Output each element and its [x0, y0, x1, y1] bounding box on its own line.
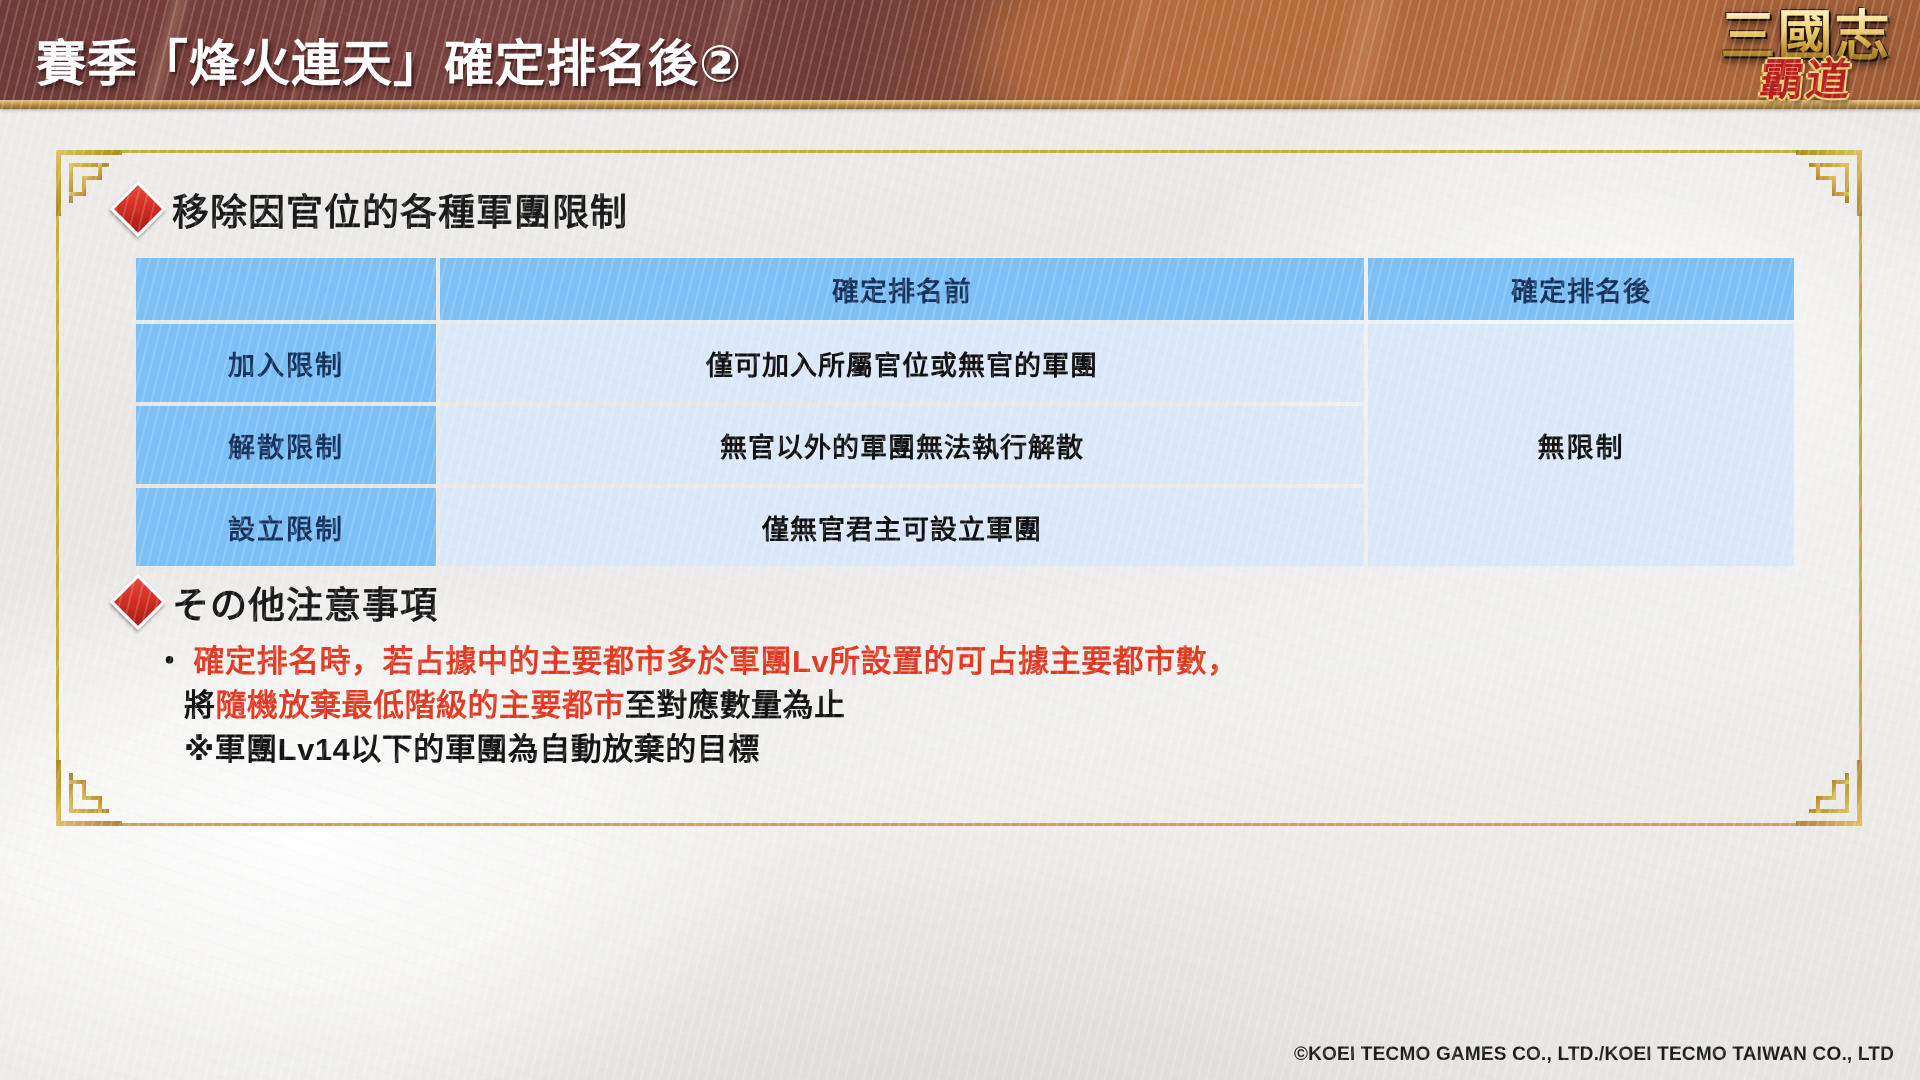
note-line-3: ※軍團Lv14以下的軍團為自動放棄的目標	[154, 728, 1814, 772]
section-heading-notes: その他注意事項	[118, 575, 438, 629]
note-line-3-text: ※軍團Lv14以下的軍團為自動放棄的目標	[184, 732, 760, 767]
comparison-table: 確定排名前 確定排名後 加入限制 僅可加入所屬官位或無官的軍團 無限制 解散限制…	[132, 254, 1798, 570]
section-heading-label: 移除因官位的各種軍團限制	[172, 182, 628, 236]
row-label-disband: 解散限制	[136, 406, 436, 484]
row-label-join: 加入限制	[136, 324, 436, 402]
note-line-2-suffix: 至對應數量為止	[625, 688, 846, 723]
cell-before-found: 僅無官君主可設立軍團	[440, 488, 1364, 566]
table-header-before: 確定排名前	[440, 258, 1364, 320]
cell-before-disband: 無官以外的軍團無法執行解散	[440, 406, 1364, 484]
table-header-after: 確定排名後	[1368, 258, 1794, 320]
table-header-row: 確定排名前 確定排名後	[136, 258, 1794, 320]
logo-sub-text: 霸道	[1716, 59, 1897, 103]
copyright-notice: ©KOEI TECMO GAMES CO., LTD./KOEI TECMO T…	[1294, 1044, 1894, 1066]
note-line-2: 將隨機放棄最低階級的主要都市至對應數量為止	[154, 684, 1814, 728]
red-diamond-icon	[110, 181, 167, 238]
red-diamond-icon	[110, 574, 167, 631]
note-line-1-text: 確定排名時，若占據中的主要都市多於軍團Lv所設置的可占據主要都市數，	[194, 644, 1239, 679]
cell-before-join: 僅可加入所屬官位或無官的軍團	[440, 324, 1364, 402]
table-header-blank	[136, 258, 436, 320]
section-heading-label: その他注意事項	[172, 575, 438, 629]
page-title: 賽季「烽火連天」確定排名後②	[36, 24, 742, 96]
slide-content: 移除因官位的各種軍團限制 確定排名前 確定排名後 加入限制 僅可加入所屬官位或無…	[56, 150, 1862, 826]
note-line-2-highlight: 隨機放棄最低階級的主要都市	[216, 688, 626, 723]
banner-gold-rule	[0, 100, 1920, 109]
section-heading-restrictions: 移除因官位的各種軍團限制	[118, 182, 628, 236]
cell-after-merged: 無限制	[1368, 324, 1794, 566]
slide-root: 賽季「烽火連天」確定排名後② 三國志 霸道 移除因官位的各種軍團限制	[0, 0, 1920, 1080]
note-line-1: ・確定排名時，若占據中的主要都市多於軍團Lv所設置的可占據主要都市數，	[154, 640, 1814, 684]
bullet-icon: ・	[154, 644, 186, 679]
row-label-found: 設立限制	[136, 488, 436, 566]
notes-list: ・確定排名時，若占據中的主要都市多於軍團Lv所設置的可占據主要都市數， 將隨機放…	[154, 640, 1814, 772]
table-row: 加入限制 僅可加入所屬官位或無官的軍團 無限制	[136, 324, 1794, 402]
note-line-2-prefix: 將	[184, 688, 216, 723]
game-logo: 三國志 霸道	[1718, 8, 1894, 148]
